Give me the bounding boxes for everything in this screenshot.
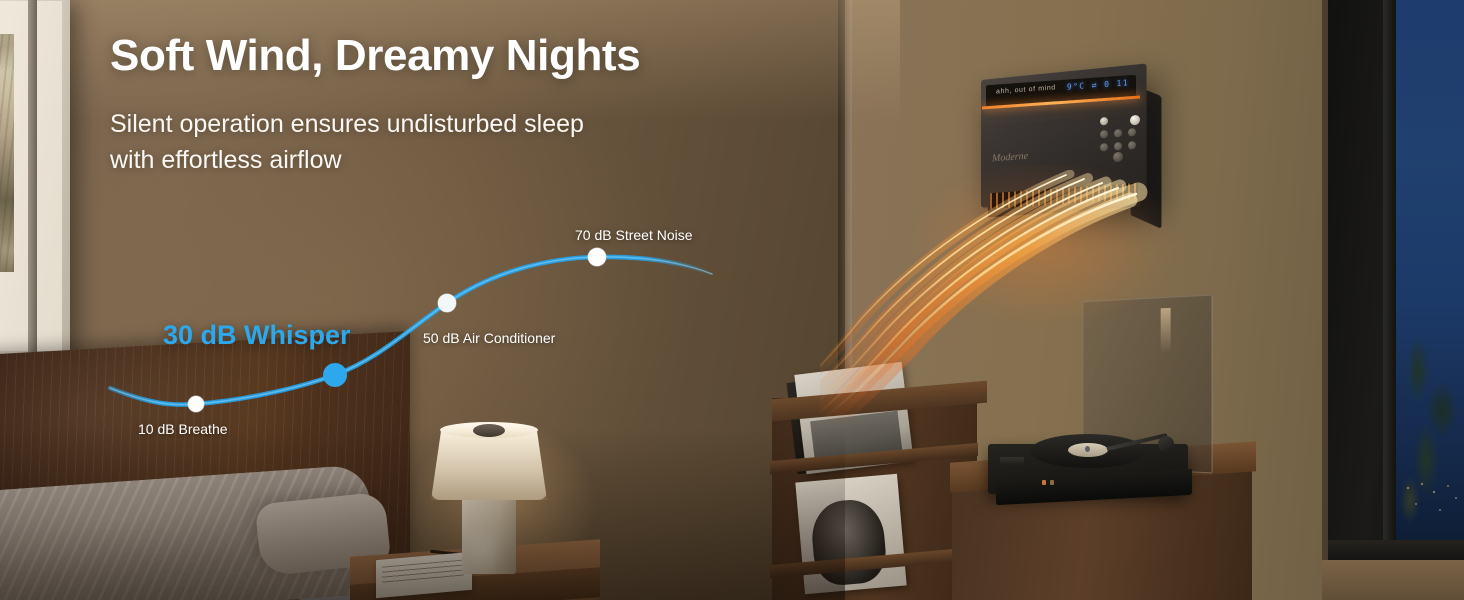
room-floor-shadow <box>0 430 845 600</box>
fan-button[interactable] <box>1100 130 1108 139</box>
temp-down-button[interactable] <box>1114 142 1122 151</box>
point-label-30db: 30 dB Whisper <box>163 320 351 351</box>
product-banner: T rt, New York, 1894 ahh, out of mind 9°… <box>0 0 1464 600</box>
page-subtitle: Silent operation ensures undisturbed sle… <box>110 107 584 178</box>
tonearm-counterweight <box>1158 436 1174 452</box>
mode-button[interactable] <box>1100 117 1108 126</box>
window-mullion <box>1383 0 1396 562</box>
power-button[interactable] <box>1130 115 1140 126</box>
point-label-50db: 50 dB Air Conditioner <box>423 330 555 346</box>
display-digits: 9°C ⇄ 0 11 <box>1067 78 1129 91</box>
point-label-70db: 70 dB Street Noise <box>575 227 693 243</box>
turntable-controls <box>1000 457 1024 466</box>
timer-button[interactable] <box>1114 129 1122 138</box>
temp-up-button[interactable] <box>1100 143 1108 152</box>
wall-below-window <box>1322 560 1464 600</box>
eco-button[interactable] <box>1128 141 1136 150</box>
turntable-spindle <box>1085 446 1090 452</box>
point-label-10db: 10 dB Breathe <box>138 421 228 437</box>
city-lights-outside <box>1396 470 1464 530</box>
turntable-power-led <box>1042 480 1046 485</box>
swing-button[interactable] <box>1128 128 1136 137</box>
artwork-painting <box>0 34 14 272</box>
framed-artwork: T rt, New York, 1894 <box>0 0 70 360</box>
turntable-status-led <box>1050 480 1054 485</box>
page-title: Soft Wind, Dreamy Nights <box>110 31 640 81</box>
artwork-frame-edge <box>28 0 37 354</box>
display-message-text: ahh, out of mind <box>996 84 1056 95</box>
